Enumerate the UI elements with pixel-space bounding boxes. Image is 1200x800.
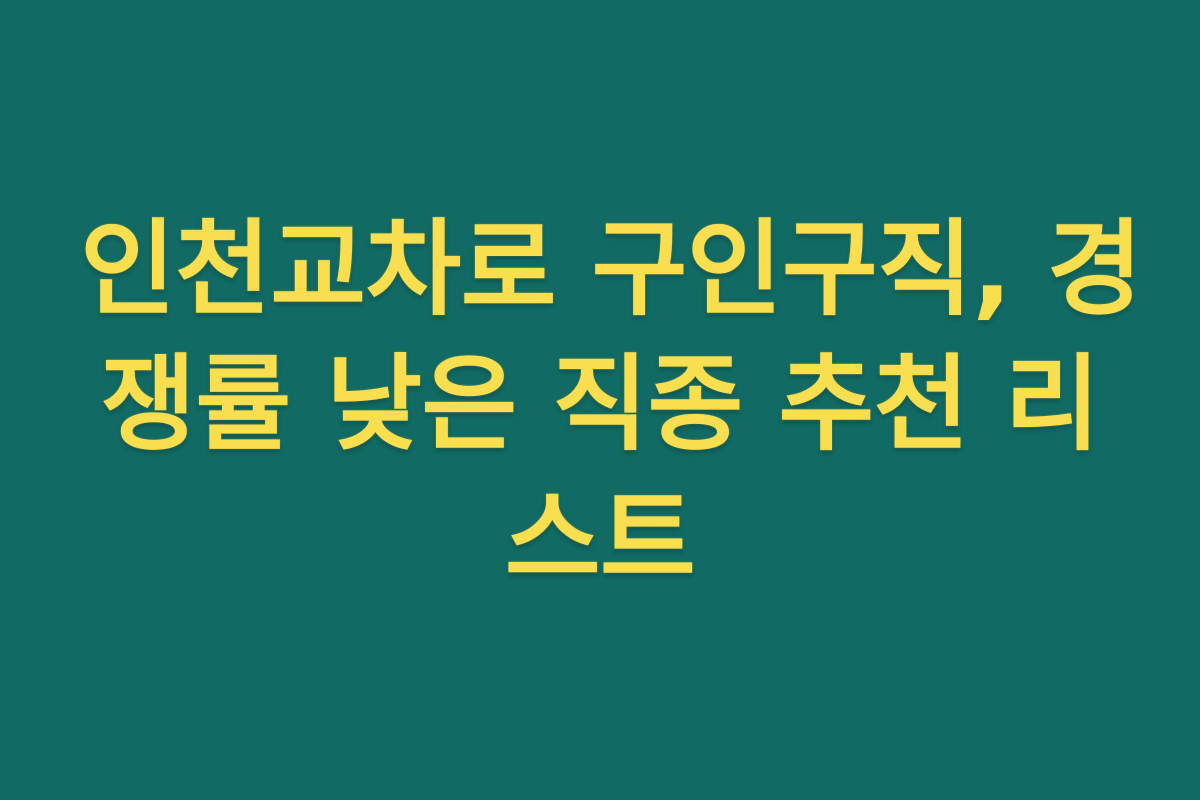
page-title: 인천교차로 구인구직, 경 쟁률 낮은 직종 추천 리 스트: [80, 202, 1120, 607]
headline-line-1: 인천교차로 구인구직, 경: [80, 202, 1120, 337]
headline-line-2: 쟁률 낮은 직종 추천 리: [80, 337, 1120, 472]
thumbnail-canvas: 인천교차로 구인구직, 경 쟁률 낮은 직종 추천 리 스트: [0, 0, 1200, 800]
headline-line-3: 스트: [80, 472, 1120, 607]
